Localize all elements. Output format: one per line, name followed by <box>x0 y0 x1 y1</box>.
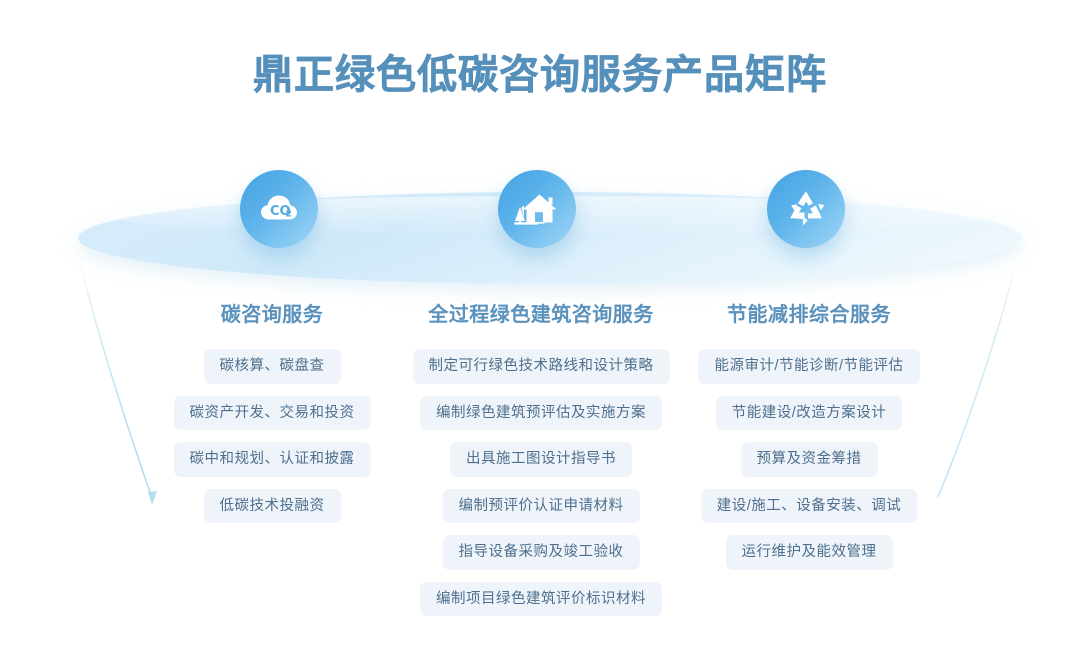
service-item[interactable]: 能源审计/节能诊断/节能评估 <box>698 349 919 384</box>
column-heading: 碳咨询服务 <box>221 298 324 327</box>
service-item[interactable]: 出具施工图设计指导书 <box>450 442 632 477</box>
service-item[interactable]: 制定可行绿色技术路线和设计策略 <box>413 349 670 384</box>
recycle-icon <box>781 184 831 234</box>
co2-cloud-icon: CO 2 <box>253 183 305 235</box>
co2-subscript: 2 <box>286 210 292 220</box>
service-item[interactable]: 碳资产开发、交易和投资 <box>174 396 371 431</box>
column-energy-saving-services: 节能减排综合服务 能源审计/节能诊断/节能评估 节能建设/改造方案设计 预算及资… <box>678 298 940 582</box>
green-building-house-icon <box>511 183 563 235</box>
service-item[interactable]: 指导设备采购及竣工验收 <box>443 535 640 570</box>
badge-energy-saving[interactable] <box>767 170 845 248</box>
badge-green-building[interactable] <box>498 170 576 248</box>
column-heading: 全过程绿色建筑咨询服务 <box>428 298 654 327</box>
service-item[interactable]: 建设/施工、设备安装、调试 <box>701 489 918 524</box>
service-item[interactable]: 碳核算、碳盘查 <box>204 349 341 384</box>
page-title: 鼎正绿色低碳咨询服务产品矩阵 <box>0 52 1080 98</box>
service-item[interactable]: 预算及资金筹措 <box>741 442 878 477</box>
badge-carbon-consulting[interactable]: CO 2 <box>240 170 318 248</box>
column-heading: 节能减排综合服务 <box>727 298 891 327</box>
service-item[interactable]: 低碳技术投融资 <box>204 489 341 524</box>
column-carbon-consulting: 碳咨询服务 碳核算、碳盘查 碳资产开发、交易和投资 碳中和规划、认证和披露 低碳… <box>140 298 404 535</box>
service-item[interactable]: 碳中和规划、认证和披露 <box>174 442 371 477</box>
service-item[interactable]: 编制项目绿色建筑评价标识材料 <box>420 582 662 617</box>
column-green-building-consulting: 全过程绿色建筑咨询服务 制定可行绿色技术路线和设计策略 编制绿色建筑预评估及实施… <box>404 298 678 628</box>
service-item[interactable]: 节能建设/改造方案设计 <box>716 396 903 431</box>
service-matrix-columns: 碳咨询服务 碳核算、碳盘查 碳资产开发、交易和投资 碳中和规划、认证和披露 低碳… <box>0 298 1080 628</box>
service-item[interactable]: 编制绿色建筑预评估及实施方案 <box>420 396 662 431</box>
service-item[interactable]: 编制预评价认证申请材料 <box>443 489 640 524</box>
service-item[interactable]: 运行维护及能效管理 <box>726 535 893 570</box>
